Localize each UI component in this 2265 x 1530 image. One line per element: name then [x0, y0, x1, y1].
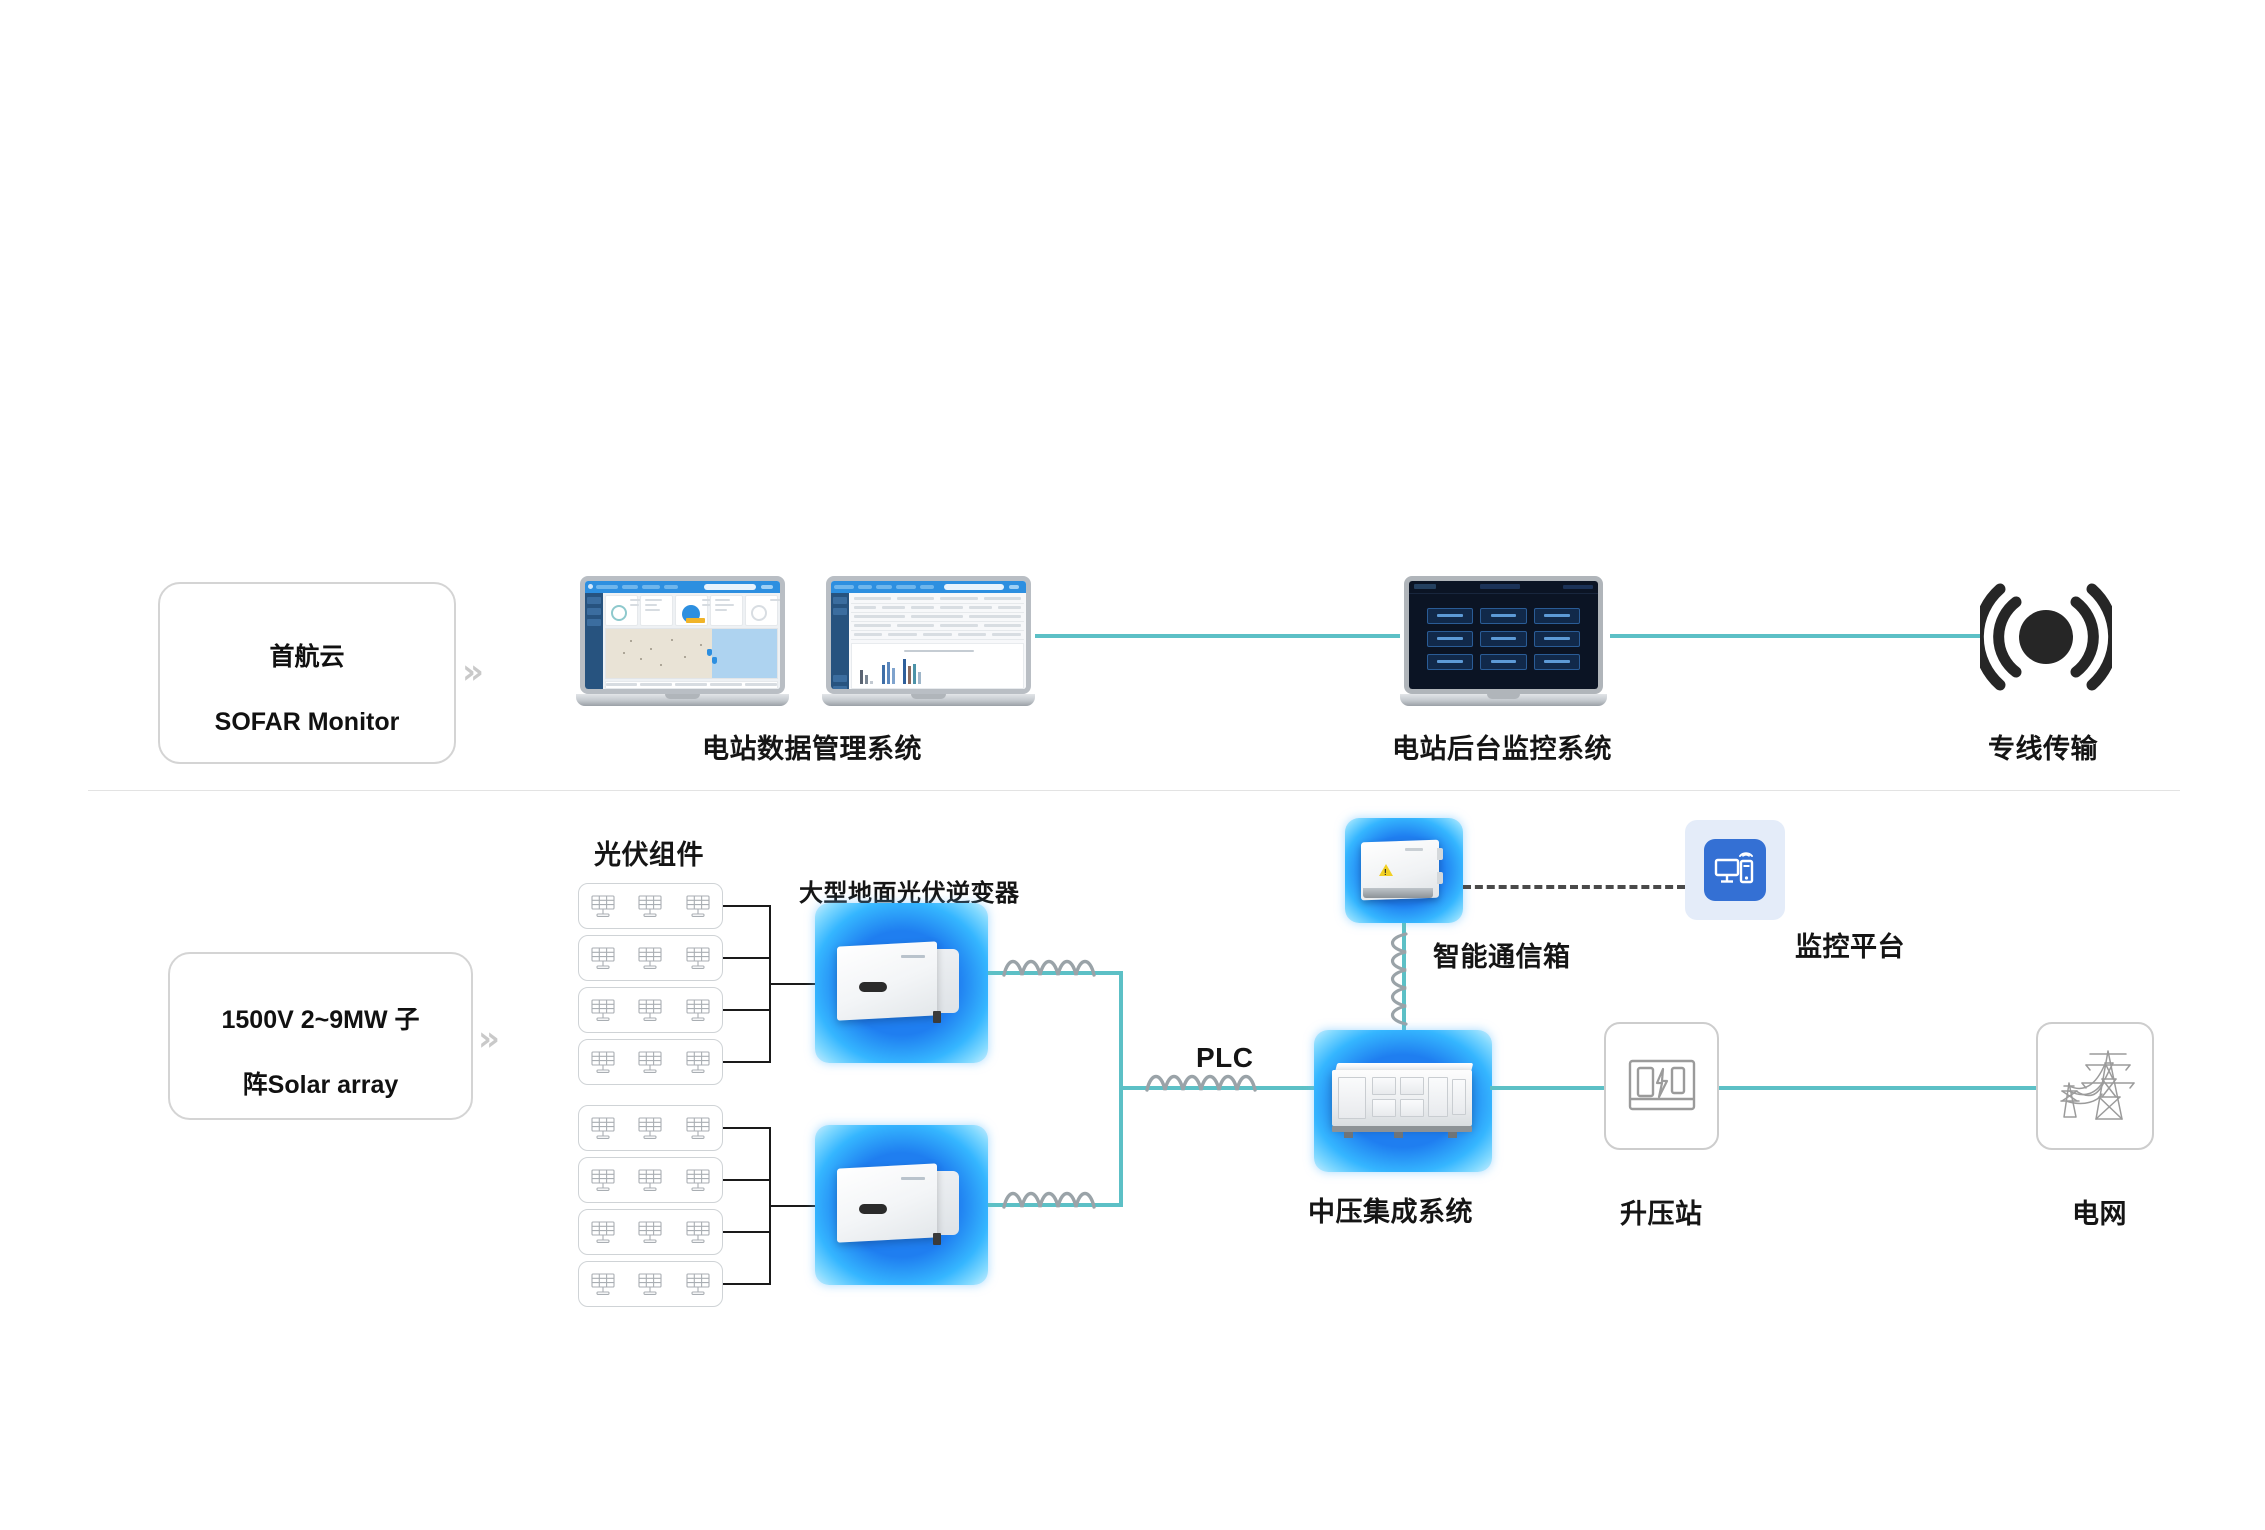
- ground-inverter-2[interactable]: [815, 1125, 988, 1285]
- laptop-data-management-right[interactable]: [826, 576, 1039, 712]
- screen-sidebar: [585, 593, 603, 689]
- label-smart-comm-box: 智能通信箱: [1433, 935, 1571, 974]
- solar-panel-icon: [635, 1217, 665, 1247]
- pv-to-inverter-wire: [769, 983, 818, 985]
- coil-symbol-icon: [1143, 1068, 1263, 1109]
- screen-bar-chart: [851, 643, 1024, 689]
- capsule-top-chevron-icon: »: [462, 655, 484, 689]
- coil-symbol-icon: [1000, 953, 1105, 994]
- link-booster-to-grid: [1712, 1086, 2070, 1090]
- pv-branch-wire: [723, 1179, 771, 1181]
- desktop-monitor-icon: [1704, 839, 1766, 901]
- solar-panel-icon: [683, 1217, 713, 1247]
- solar-panel-icon: [635, 943, 665, 973]
- diagram-canvas: 首航云 SOFAR Monitor »: [0, 0, 2265, 1530]
- console-button[interactable]: [1480, 608, 1526, 624]
- console-button[interactable]: [1534, 608, 1580, 624]
- coil-symbol-vertical-icon: [1384, 930, 1420, 1035]
- screen-dark-console: [1409, 581, 1598, 689]
- label-power-grid: 电网: [2072, 1192, 2127, 1231]
- substation-icon: [1626, 1055, 1698, 1117]
- power-grid[interactable]: [2036, 1022, 2154, 1150]
- pv-branch-wire: [723, 1283, 771, 1285]
- pv-row[interactable]: [578, 1261, 723, 1307]
- smart-comm-box[interactable]: [1345, 818, 1463, 923]
- solar-panel-icon: [588, 1113, 618, 1143]
- solar-panel-icon: [588, 1047, 618, 1077]
- pv-row[interactable]: [578, 935, 723, 981]
- label-dedicated-line: 专线传输: [1988, 727, 2098, 766]
- capsule-top-line2: SOFAR Monitor: [215, 708, 400, 736]
- solar-panel-icon: [683, 1113, 713, 1143]
- solar-panel-icon: [683, 891, 713, 921]
- console-button[interactable]: [1534, 654, 1580, 670]
- broadcast-signal-icon: [1980, 582, 2112, 692]
- solar-panel-icon: [635, 1113, 665, 1143]
- label-monitoring-platform: 监控平台: [1795, 925, 1905, 964]
- solar-panel-icon: [588, 891, 618, 921]
- console-button[interactable]: [1427, 631, 1473, 647]
- screen-dashboard-map: [585, 581, 780, 689]
- pv-branch-wire: [723, 957, 771, 959]
- console-button-grid[interactable]: [1409, 594, 1598, 684]
- pv-row[interactable]: [578, 1039, 723, 1085]
- link-mv-to-booster: [1490, 1086, 1612, 1090]
- section-divider: [88, 790, 2180, 791]
- warning-triangle-icon: [1379, 864, 1393, 876]
- capsule-bottom-chevron-icon: »: [478, 1022, 500, 1056]
- capsule-bottom-line1: 1500V 2~9MW 子: [221, 1006, 419, 1034]
- solar-panel-icon: [683, 1047, 713, 1077]
- pv-row[interactable]: [578, 987, 723, 1033]
- console-button[interactable]: [1480, 631, 1526, 647]
- booster-station[interactable]: [1604, 1022, 1719, 1150]
- solar-panel-icon: [635, 891, 665, 921]
- solar-panel-icon: [683, 995, 713, 1025]
- solar-panel-icon: [683, 943, 713, 973]
- laptop-backend-monitoring[interactable]: [1404, 576, 1611, 712]
- screen-kpi-cards: [605, 595, 778, 626]
- ground-inverter-1[interactable]: [815, 903, 988, 1063]
- coil-symbol-icon: [1000, 1185, 1105, 1226]
- label-backend-monitoring-system: 电站后台监控系统: [1392, 727, 1612, 766]
- label-booster-station: 升压站: [1620, 1192, 1703, 1231]
- solar-panel-icon: [635, 995, 665, 1025]
- mv-integrated-system[interactable]: [1314, 1030, 1492, 1172]
- label-mv-integrated-system: 中压集成系统: [1308, 1190, 1473, 1229]
- pv-to-inverter-wire: [769, 1205, 818, 1207]
- capsule-bottom-line2: 阵Solar array: [243, 1071, 399, 1099]
- pv-row[interactable]: [578, 1105, 723, 1151]
- screen-map: [605, 628, 778, 679]
- solar-panel-icon: [683, 1269, 713, 1299]
- pv-branch-wire: [723, 1231, 771, 1233]
- pv-row[interactable]: [578, 1157, 723, 1203]
- console-button[interactable]: [1427, 654, 1473, 670]
- solar-panel-icon: [588, 943, 618, 973]
- capsule-solar-array[interactable]: 1500V 2~9MW 子 阵Solar array: [168, 952, 473, 1120]
- link-commbox-to-platform: [1463, 885, 1685, 889]
- solar-panel-icon: [588, 1217, 618, 1247]
- solar-panel-icon: [683, 1165, 713, 1195]
- console-button[interactable]: [1534, 631, 1580, 647]
- capsule-sofar-monitor[interactable]: 首航云 SOFAR Monitor: [158, 582, 456, 764]
- pv-branch-wire: [723, 1009, 771, 1011]
- transmission-tower-icon: [2052, 1045, 2138, 1127]
- solar-panel-icon: [588, 1165, 618, 1195]
- screen-footer-row: [605, 681, 778, 689]
- monitoring-platform[interactable]: [1685, 820, 1785, 920]
- pv-row[interactable]: [578, 883, 723, 929]
- solar-panel-icon: [635, 1165, 665, 1195]
- pv-row[interactable]: [578, 1209, 723, 1255]
- pv-branch-wire: [723, 1061, 771, 1063]
- link-data-to-backend: [1035, 634, 1400, 638]
- screen-topbar: [831, 581, 1026, 593]
- link-backend-to-dedicated-line: [1610, 634, 1980, 638]
- solar-panel-icon: [635, 1269, 665, 1299]
- screen-table-chart: [831, 581, 1026, 689]
- screen-sidebar: [831, 593, 849, 689]
- pv-branch-wire: [723, 1127, 771, 1129]
- label-pv-modules: 光伏组件: [594, 833, 704, 872]
- label-data-management-system: 电站数据管理系统: [702, 727, 922, 766]
- solar-panel-icon: [588, 995, 618, 1025]
- screen-topbar: [585, 581, 780, 593]
- capsule-top-line1: 首航云: [269, 643, 344, 671]
- laptop-data-management-left[interactable]: [580, 576, 793, 712]
- solar-panel-icon: [588, 1269, 618, 1299]
- pv-branch-wire: [723, 905, 771, 907]
- console-button[interactable]: [1480, 654, 1526, 670]
- console-button[interactable]: [1427, 608, 1473, 624]
- solar-panel-icon: [635, 1047, 665, 1077]
